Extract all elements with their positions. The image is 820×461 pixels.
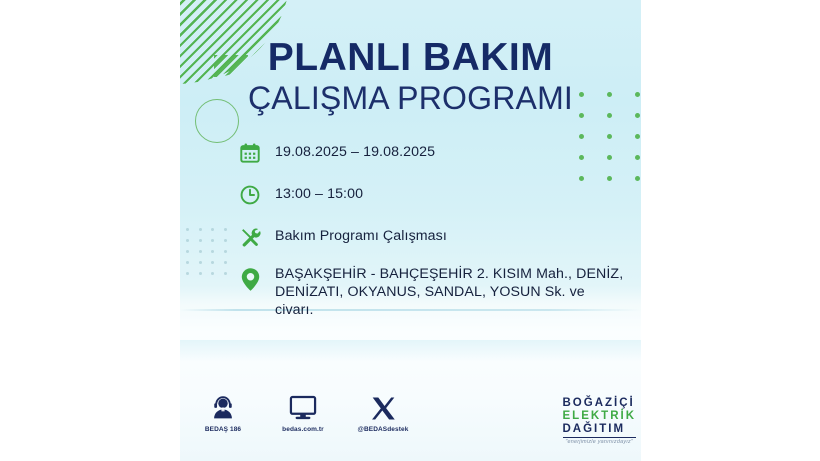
contact-call-center[interactable]: BEDAŞ 186 bbox=[194, 393, 252, 433]
brand-tagline: "enerjimizle yanınızdayız" bbox=[563, 439, 637, 445]
monitor-icon bbox=[274, 393, 332, 423]
contact-x-social-label: @BEDASdestek bbox=[354, 426, 412, 433]
detail-location-text: BAŞAKŞEHİR - BAHÇEŞEHİR 2. KISIM Mah., D… bbox=[275, 264, 625, 320]
screenshot-canvas: PLANLI BAKIM ÇALIŞMA PROGRAMI bbox=[0, 0, 820, 461]
detail-row-location: BAŞAKŞEHİR - BAHÇEŞEHİR 2. KISIM Mah., D… bbox=[235, 264, 625, 320]
support-agent-icon bbox=[194, 393, 252, 423]
dot-grid-left-decoration bbox=[186, 228, 236, 283]
location-pin-icon bbox=[235, 264, 265, 294]
contact-channels: BEDAŞ 186 bedas.com.tr bbox=[194, 393, 412, 433]
page-subtitle: ÇALIŞMA PROGRAMI bbox=[180, 82, 641, 116]
bedas-logo: BOĞAZİÇİ ELEKTRİK DAĞITIM "enerjimizle y… bbox=[563, 397, 637, 445]
detail-row-time: 13:00 – 15:00 bbox=[235, 180, 625, 210]
contact-x-social[interactable]: @BEDASdestek bbox=[354, 393, 412, 433]
calendar-icon bbox=[235, 138, 265, 168]
brand-line-dagitim: DAĞITIM bbox=[563, 423, 637, 436]
clock-icon bbox=[235, 180, 265, 210]
maintenance-notice-poster: PLANLI BAKIM ÇALIŞMA PROGRAMI bbox=[180, 0, 641, 461]
poster-footer: BEDAŞ 186 bedas.com.tr bbox=[180, 393, 641, 453]
detail-date-text: 19.08.2025 – 19.08.2025 bbox=[275, 138, 435, 162]
detail-worktype-text: Bakım Programı Çalışması bbox=[275, 222, 447, 246]
brand-line-bogazici: BOĞAZİÇİ bbox=[563, 397, 637, 410]
contact-call-center-label: BEDAŞ 186 bbox=[194, 426, 252, 433]
contact-website[interactable]: bedas.com.tr bbox=[274, 393, 332, 433]
tools-icon bbox=[235, 222, 265, 252]
page-title: PLANLI BAKIM bbox=[180, 38, 641, 77]
contact-website-label: bedas.com.tr bbox=[274, 426, 332, 433]
poster-title-block: PLANLI BAKIM ÇALIŞMA PROGRAMI bbox=[180, 38, 641, 116]
detail-time-text: 13:00 – 15:00 bbox=[275, 180, 363, 204]
notice-details-list: 19.08.2025 – 19.08.2025 13:00 – 15:00 bbox=[235, 138, 625, 332]
detail-row-date: 19.08.2025 – 19.08.2025 bbox=[235, 138, 625, 168]
section-divider-glow bbox=[180, 340, 641, 362]
brand-underline bbox=[563, 437, 637, 438]
x-twitter-icon bbox=[354, 393, 412, 423]
detail-row-worktype: Bakım Programı Çalışması bbox=[235, 222, 625, 252]
brand-line-elektrik: ELEKTRİK bbox=[563, 410, 637, 423]
